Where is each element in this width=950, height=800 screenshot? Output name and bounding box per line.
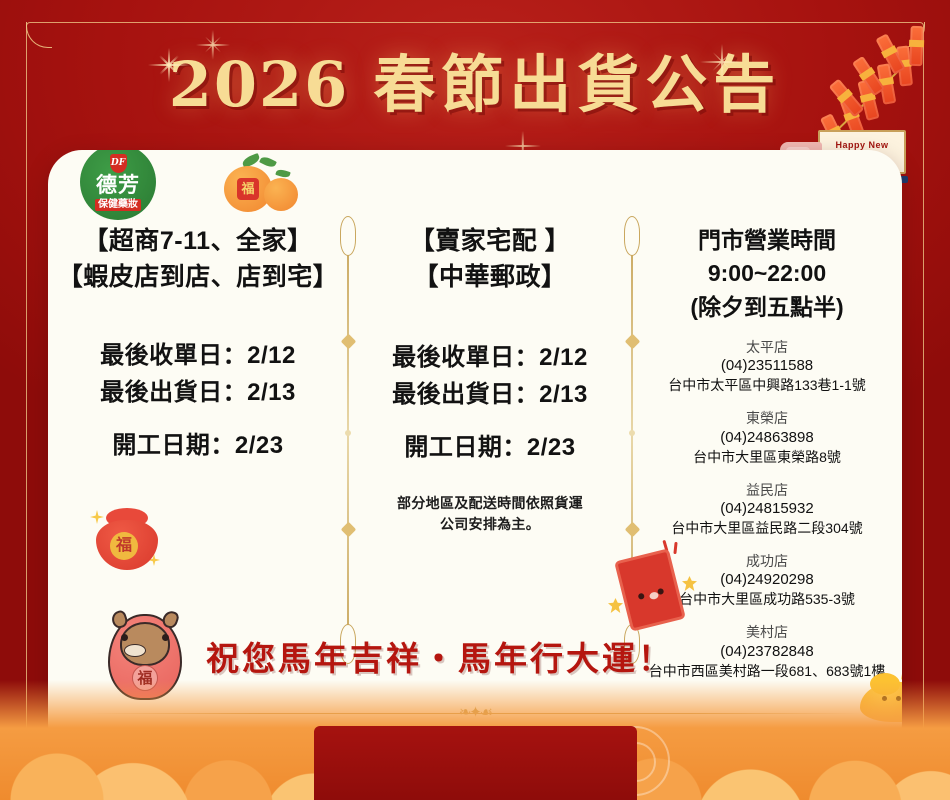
content-card: DF 德芳 保健藥妝 福 【超商7-11、全家】 【蝦皮店到店、店到宅】 最後收… bbox=[48, 150, 902, 758]
sparkle-icon bbox=[901, 668, 902, 680]
brand-name: 德芳 bbox=[96, 175, 140, 196]
hours-note: (除夕到五點半) bbox=[638, 291, 896, 324]
store-phone: (04)24815932 bbox=[638, 499, 896, 519]
left-reopen-date: 開工日期：2/23 bbox=[54, 427, 342, 464]
store-entry: 益民店 (04)24815932 台中市大里區益民路二段304號 bbox=[638, 481, 896, 538]
middle-note: 部分地區及配送時間依照貨運 公司安排為主。 bbox=[354, 493, 626, 535]
new-year-shipping-poster: 2026春節出貨公告 Happy New bbox=[0, 0, 950, 800]
envelope-eye-left bbox=[638, 593, 645, 600]
middle-heading-line1: 【賣家宅配 】 bbox=[354, 224, 626, 260]
middle-heading: 【賣家宅配 】 【中華郵政】 bbox=[354, 224, 626, 295]
store-entry: 太平店 (04)23511588 台中市太平區中興路133巷1-1號 bbox=[638, 338, 896, 395]
mandarin-oranges-icon: 福 bbox=[216, 156, 302, 218]
store-address: 台中市大里區東榮路8號 bbox=[638, 448, 896, 467]
store-name: 東榮店 bbox=[638, 409, 896, 427]
swirl-icon bbox=[330, 732, 390, 792]
orange-fu-label: 福 bbox=[237, 178, 259, 200]
daruma-ear-left bbox=[110, 609, 130, 630]
left-heading: 【超商7-11、全家】 【蝦皮店到店、店到宅】 bbox=[54, 224, 342, 295]
store-address: 台中市大里區益民路二段304號 bbox=[638, 519, 896, 538]
envelope-spark-line bbox=[673, 542, 677, 554]
middle-last-order-date: 最後收單日：2/12 bbox=[354, 339, 626, 376]
daruma-eye-left bbox=[121, 634, 128, 641]
hours-title: 門市營業時間 bbox=[638, 224, 896, 257]
daruma-muzzle bbox=[124, 644, 146, 657]
hours-time: 9:00~22:00 bbox=[638, 257, 896, 290]
left-last-order-date: 最後收單日：2/12 bbox=[54, 337, 342, 374]
greeting-text: 祝您馬年吉祥‧馬年行大運！ bbox=[206, 632, 674, 680]
store-name: 益民店 bbox=[638, 481, 896, 499]
envelope-mouth bbox=[649, 591, 659, 600]
store-entry: 東榮店 (04)24863898 台中市大里區東榮路8號 bbox=[638, 409, 896, 466]
store-address: 台中市太平區中興路133巷1-1號 bbox=[638, 376, 896, 395]
left-last-ship-date: 最後出貨日：2/13 bbox=[54, 374, 342, 411]
store-phone: (04)23511588 bbox=[638, 356, 896, 376]
bag-fu-label: 福 bbox=[110, 532, 138, 560]
daruma-ear-right bbox=[161, 609, 181, 630]
store-name: 太平店 bbox=[638, 338, 896, 356]
swirl-icon bbox=[600, 726, 670, 796]
store-phone: (04)24863898 bbox=[638, 428, 896, 448]
daruma-eye-right bbox=[162, 634, 169, 641]
poster-title: 2026春節出貨公告 bbox=[0, 34, 950, 124]
middle-reopen-date: 開工日期：2/23 bbox=[354, 429, 626, 466]
left-heading-line2: 【蝦皮店到店、店到宅】 bbox=[54, 260, 342, 296]
middle-note-line2: 公司安排為主。 bbox=[354, 514, 626, 535]
lucky-bag-icon: 福 bbox=[90, 502, 164, 572]
brand-mark: DF bbox=[110, 154, 127, 173]
sparkle-icon bbox=[90, 510, 104, 524]
middle-note-line1: 部分地區及配送時間依照貨運 bbox=[354, 493, 626, 514]
middle-last-ship-date: 最後出貨日：2/13 bbox=[354, 376, 626, 413]
left-heading-line1: 【超商7-11、全家】 bbox=[54, 224, 342, 260]
title-year: 2026 bbox=[169, 48, 350, 121]
flower-icon bbox=[682, 576, 697, 591]
swirl-icon bbox=[616, 742, 656, 782]
daruma-face bbox=[120, 622, 170, 666]
swirl-icon bbox=[342, 744, 378, 780]
middle-heading-line2: 【中華郵政】 bbox=[354, 260, 626, 296]
title-text: 春節出貨公告 bbox=[373, 48, 781, 121]
bottom-floral-decoration bbox=[0, 680, 950, 800]
brand-subtitle: 保健藥妝 bbox=[95, 199, 141, 211]
truck-sign-line1: Happy New bbox=[835, 140, 888, 150]
